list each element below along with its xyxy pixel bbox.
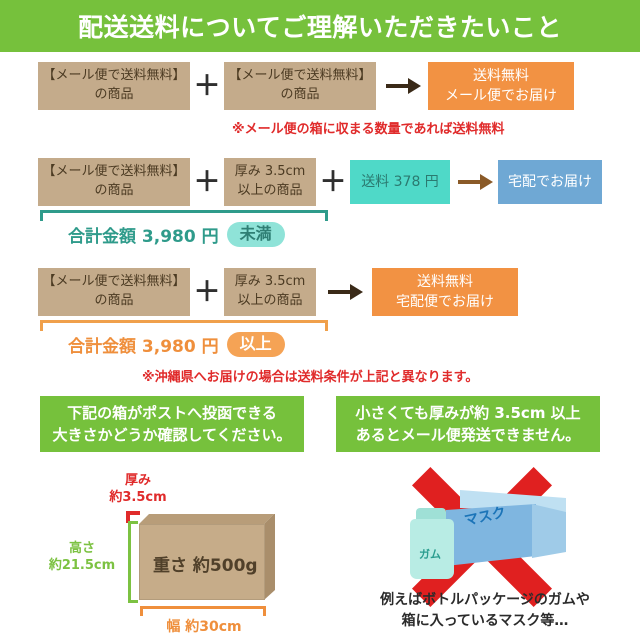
ng-caption-line1: 例えばボトルパッケージのガムや [380, 592, 590, 608]
height-bracket [128, 521, 138, 603]
panel-line2: あるとメール便発送できません。 [356, 424, 581, 447]
infographic-root: 配送送料についてご理解いただきたいこと 【メール便で送料無料】 の商品 ＋ 【メ… [0, 0, 640, 640]
parcel-side-face [264, 514, 275, 600]
result-box-free-takuhaibin: 送料無料 宅配便でお届け [372, 268, 518, 316]
arrow-right-icon [326, 279, 366, 305]
gum-bottle-icon: ガム [404, 508, 460, 582]
ng-caption: 例えばボトルパッケージのガムや 箱に入っているマスク等… [340, 590, 630, 632]
result-line1: 送料無料 [417, 272, 473, 292]
height-label-line1: 高さ [69, 541, 95, 556]
parcel-top-face [139, 514, 274, 524]
arrow-right-icon [384, 73, 424, 99]
width-bracket [140, 606, 266, 616]
result-box-takuhai: 宅配でお届け [498, 160, 602, 204]
thickness-dimension-label: 厚み 約3.5cm [98, 473, 178, 507]
mask-package-icon: マスク [446, 490, 566, 570]
result-label: 宅配でお届け [508, 172, 592, 192]
arrow-right-icon [456, 169, 496, 195]
thickness-label-line2: 約3.5cm [109, 490, 166, 505]
height-label-line2: 約21.5cm [49, 558, 115, 573]
ng-illustration: マスク ガム [386, 474, 576, 584]
result-line2: 宅配便でお届け [396, 292, 494, 312]
thickness-label-line1: 厚み [125, 473, 151, 488]
panel-thickness: 小さくても厚みが約 3.5cm 以上 あるとメール便発送できません。 [336, 396, 600, 452]
shipping-fee-box: 送料 378 円 [350, 160, 450, 204]
height-dimension-label: 高さ 約21.5cm [38, 541, 126, 575]
gum-label: ガム [419, 546, 441, 562]
result-line2: メール便でお届け [445, 86, 557, 106]
result-box-free-mailbin: 送料無料 メール便でお届け [428, 62, 574, 110]
ng-caption-line2: 箱に入っているマスク等… [402, 613, 569, 629]
width-dimension-label: 幅 約30cm [152, 618, 256, 636]
shipping-fee-label: 送料 378 円 [361, 172, 439, 192]
result-line1: 送料無料 [473, 66, 529, 86]
panel-line1: 小さくても厚みが約 3.5cm 以上 [355, 402, 580, 425]
parcel-diagram: 厚み 約3.5cm 重さ 約500g 高さ 約21.5cm 幅 約30cm [0, 0, 330, 640]
parcel-weight-label: 重さ 約500g [153, 551, 258, 576]
